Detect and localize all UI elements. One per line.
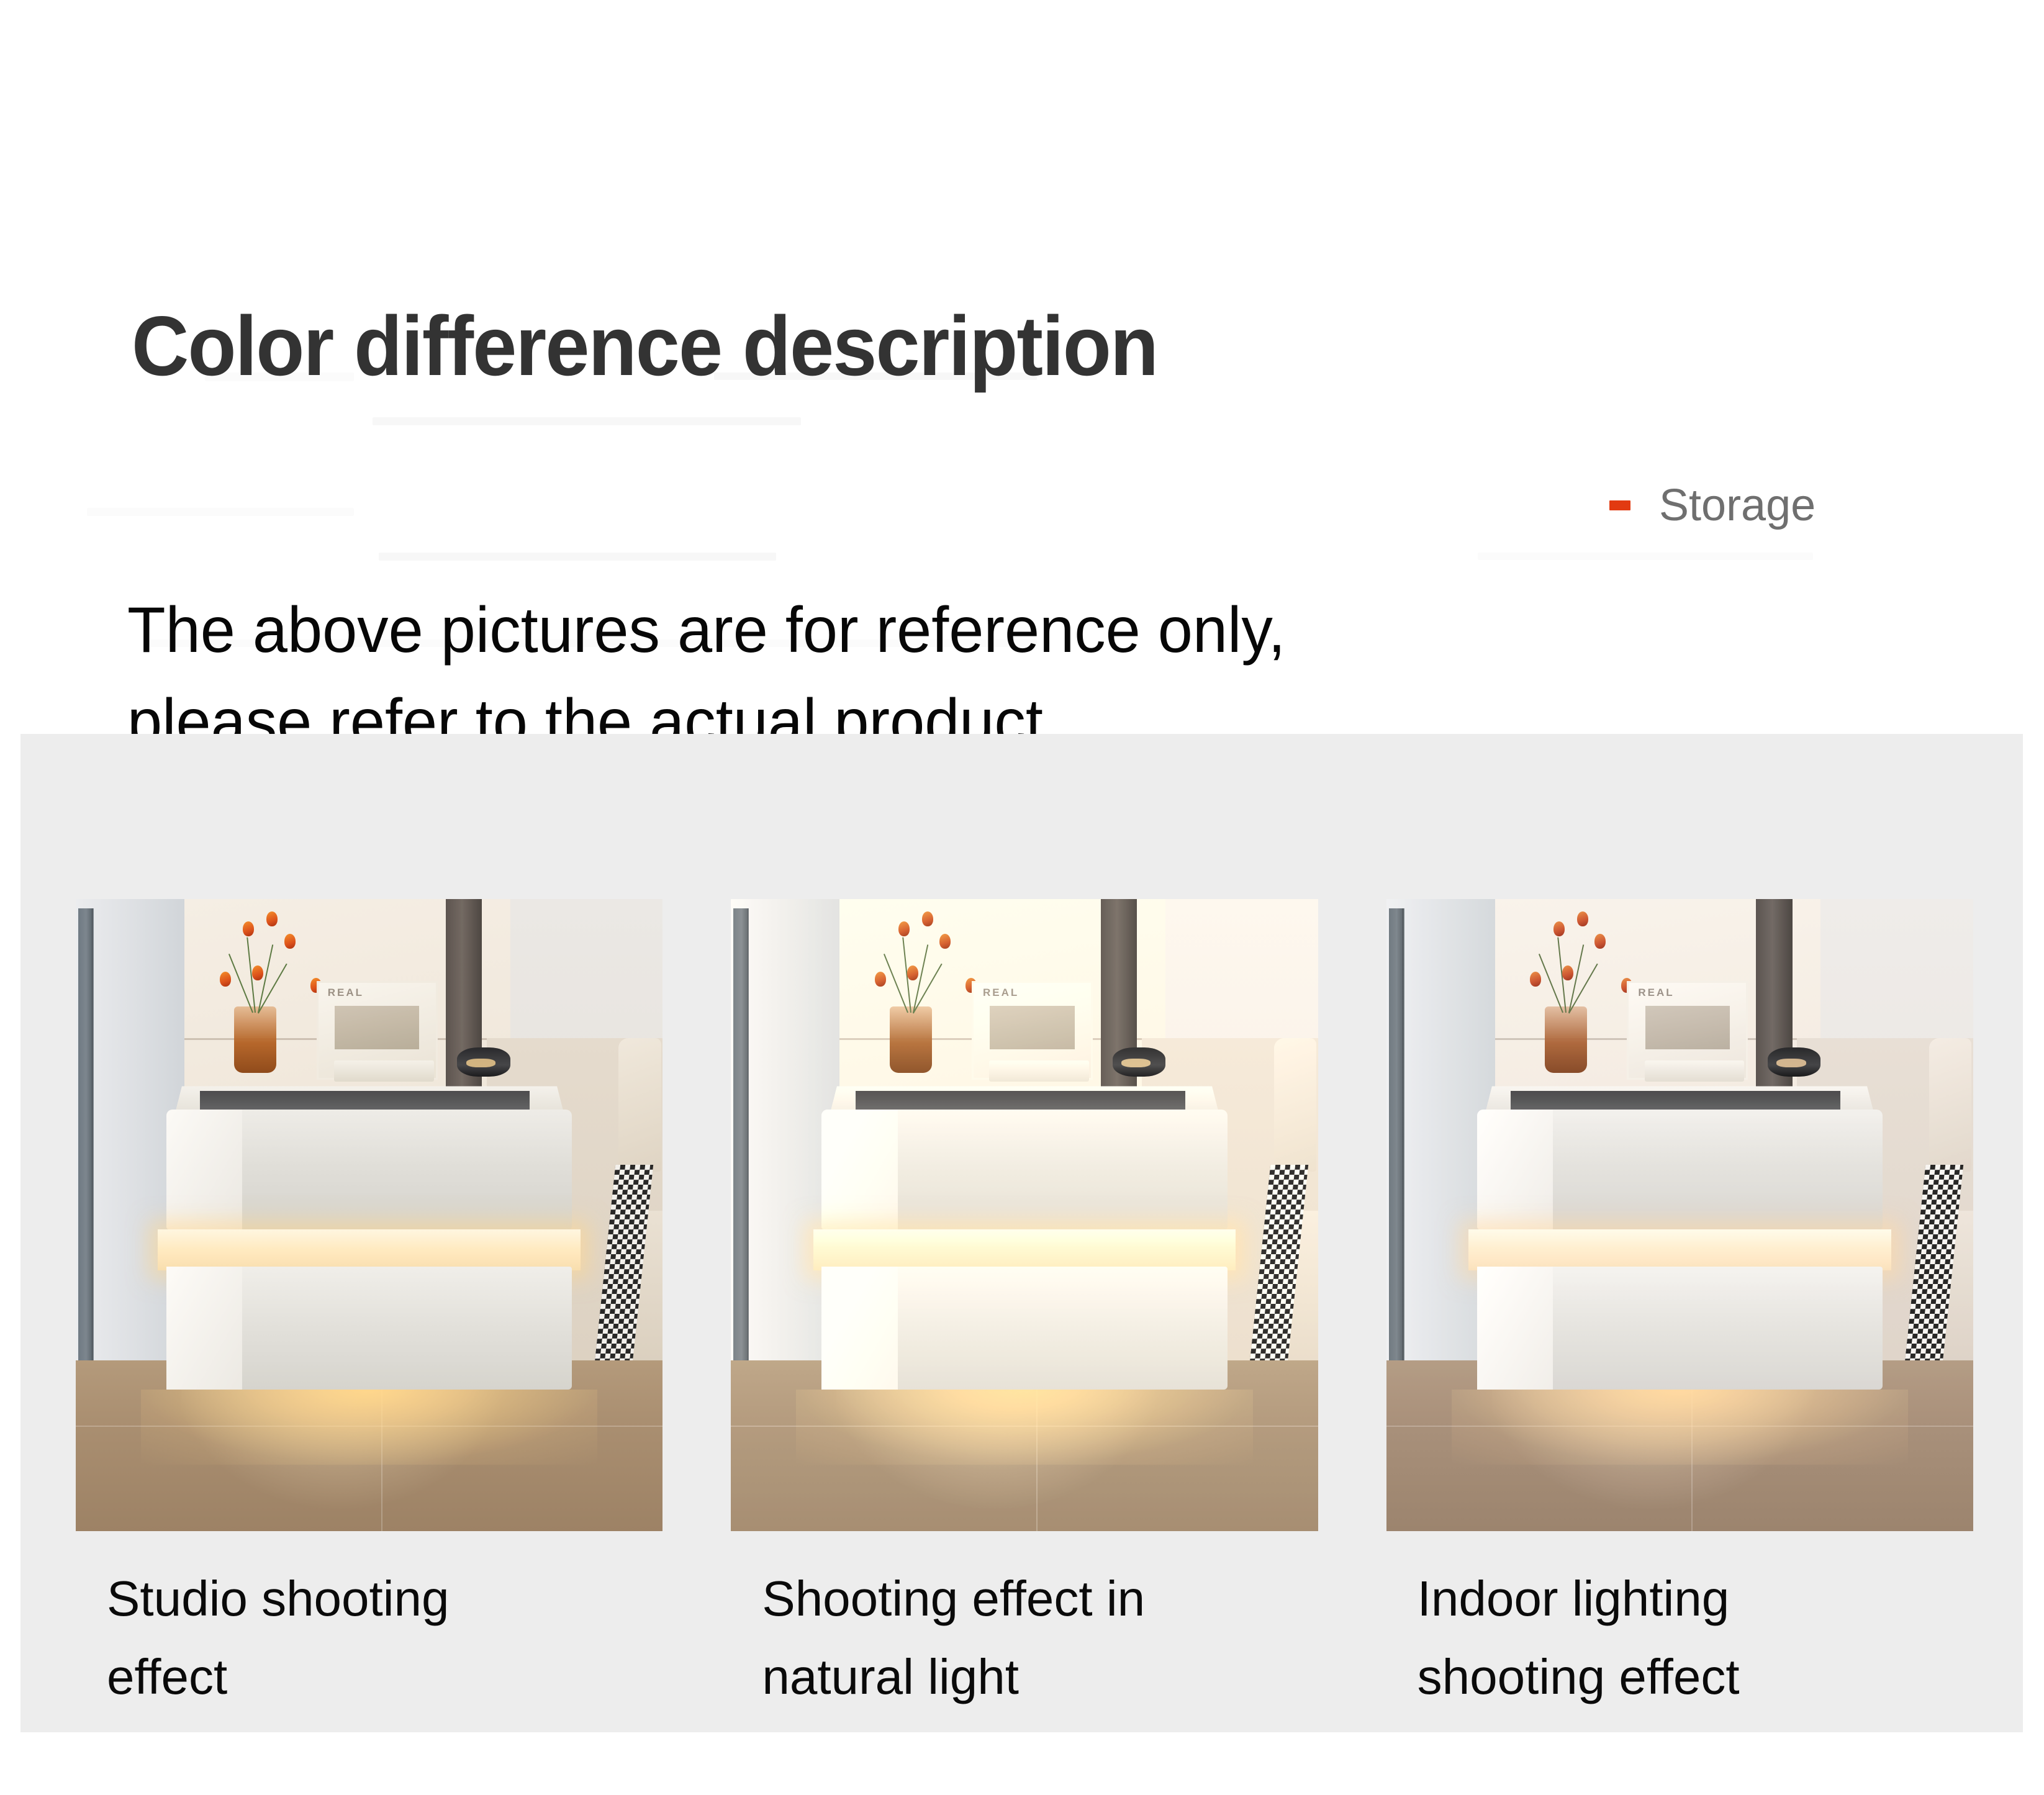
led-underglow — [796, 1390, 1252, 1465]
ashtray-highlight — [466, 1059, 495, 1067]
nightstand-upper-side — [166, 1110, 243, 1229]
caption-line-2: natural light — [762, 1638, 1342, 1716]
orange-dash-icon — [1609, 500, 1630, 510]
caption-line-1: Studio shooting — [107, 1560, 687, 1638]
frame-image-area — [990, 1006, 1074, 1049]
glass-vase — [890, 1006, 932, 1073]
frame-image-area — [1645, 1006, 1730, 1049]
nightstand — [158, 1082, 581, 1424]
comparison-photo-natural[interactable]: REAL — [731, 899, 1318, 1531]
caption-line-1: Shooting effect in — [762, 1560, 1342, 1638]
nightstand-upper-side — [821, 1110, 898, 1229]
page-title: Color difference description — [132, 304, 1157, 388]
caption-studio: Studio shooting effect — [51, 1560, 687, 1717]
bed-headboard — [1929, 1038, 1971, 1172]
nightstand-upper-side — [1477, 1110, 1553, 1229]
tulip-flower — [1594, 934, 1606, 949]
tulip-flower — [284, 934, 296, 949]
tulip-flower — [875, 972, 886, 987]
comparison-photo-studio[interactable]: REAL — [76, 899, 662, 1531]
nightstand — [813, 1082, 1236, 1424]
comparison-image-row: REAL — [51, 889, 1998, 1521]
nightstand — [1468, 1082, 1891, 1424]
led-light-strip — [813, 1229, 1236, 1270]
storage-tag: Storage — [1609, 483, 1816, 528]
tulip-flower — [252, 965, 263, 980]
tulip-flower — [1577, 911, 1588, 926]
nightstand-glass-inlay — [856, 1091, 1185, 1110]
tulip-flower — [898, 921, 910, 936]
frame-brand-text: REAL — [983, 987, 1019, 999]
led-underglow — [1452, 1390, 1908, 1465]
nightstand-lower-side — [1477, 1267, 1553, 1390]
glass-vase — [234, 1006, 276, 1073]
storage-label: Storage — [1659, 483, 1816, 528]
tulip-flower — [1562, 965, 1573, 980]
caption-natural: Shooting effect in natural light — [706, 1560, 1342, 1717]
ashtray-highlight — [1776, 1059, 1806, 1067]
decor-tray — [989, 1060, 1089, 1082]
reference-note-line-1: The above pictures are for reference onl… — [127, 585, 1645, 677]
caption-line-2: shooting effect — [1418, 1638, 1998, 1716]
tulip-flower — [220, 972, 231, 987]
nightstand-scene: REAL — [1386, 899, 1973, 1531]
nightstand-glass-inlay — [1511, 1091, 1840, 1110]
nightstand-scene: REAL — [731, 899, 1318, 1531]
frame-brand-text: REAL — [1638, 987, 1674, 999]
comparison-panel: REAL — [20, 734, 2023, 1732]
tulip-flower — [1530, 972, 1541, 987]
tulip-flower — [907, 965, 918, 980]
decor-tray — [334, 1060, 434, 1082]
ashtray-highlight — [1121, 1059, 1151, 1067]
nightstand-lower-side — [166, 1267, 243, 1390]
tulip-flower — [922, 911, 933, 926]
caption-line-1: Indoor lighting — [1418, 1560, 1998, 1638]
led-light-strip — [1468, 1229, 1891, 1270]
caption-line-2: effect — [107, 1638, 687, 1716]
tulip-flower — [243, 921, 254, 936]
nightstand-scene: REAL — [76, 899, 662, 1531]
decor-tray — [1645, 1060, 1745, 1082]
comparison-photo-indoor[interactable]: REAL — [1386, 899, 1973, 1531]
bed-headboard — [1274, 1038, 1316, 1172]
tulip-flower — [266, 911, 278, 926]
comparison-caption-row: Studio shooting effect Shooting effect i… — [51, 1560, 1998, 1717]
nightstand-glass-inlay — [200, 1091, 530, 1110]
frame-brand-text: REAL — [328, 987, 364, 999]
led-underglow — [141, 1390, 597, 1465]
led-light-strip — [158, 1229, 581, 1270]
tulip-flower — [939, 934, 951, 949]
tulip-flower — [1553, 921, 1565, 936]
bed-headboard — [618, 1038, 661, 1172]
caption-indoor: Indoor lighting shooting effect — [1362, 1560, 1998, 1717]
glass-vase — [1545, 1006, 1587, 1073]
frame-image-area — [335, 1006, 419, 1049]
nightstand-lower-side — [821, 1267, 898, 1390]
